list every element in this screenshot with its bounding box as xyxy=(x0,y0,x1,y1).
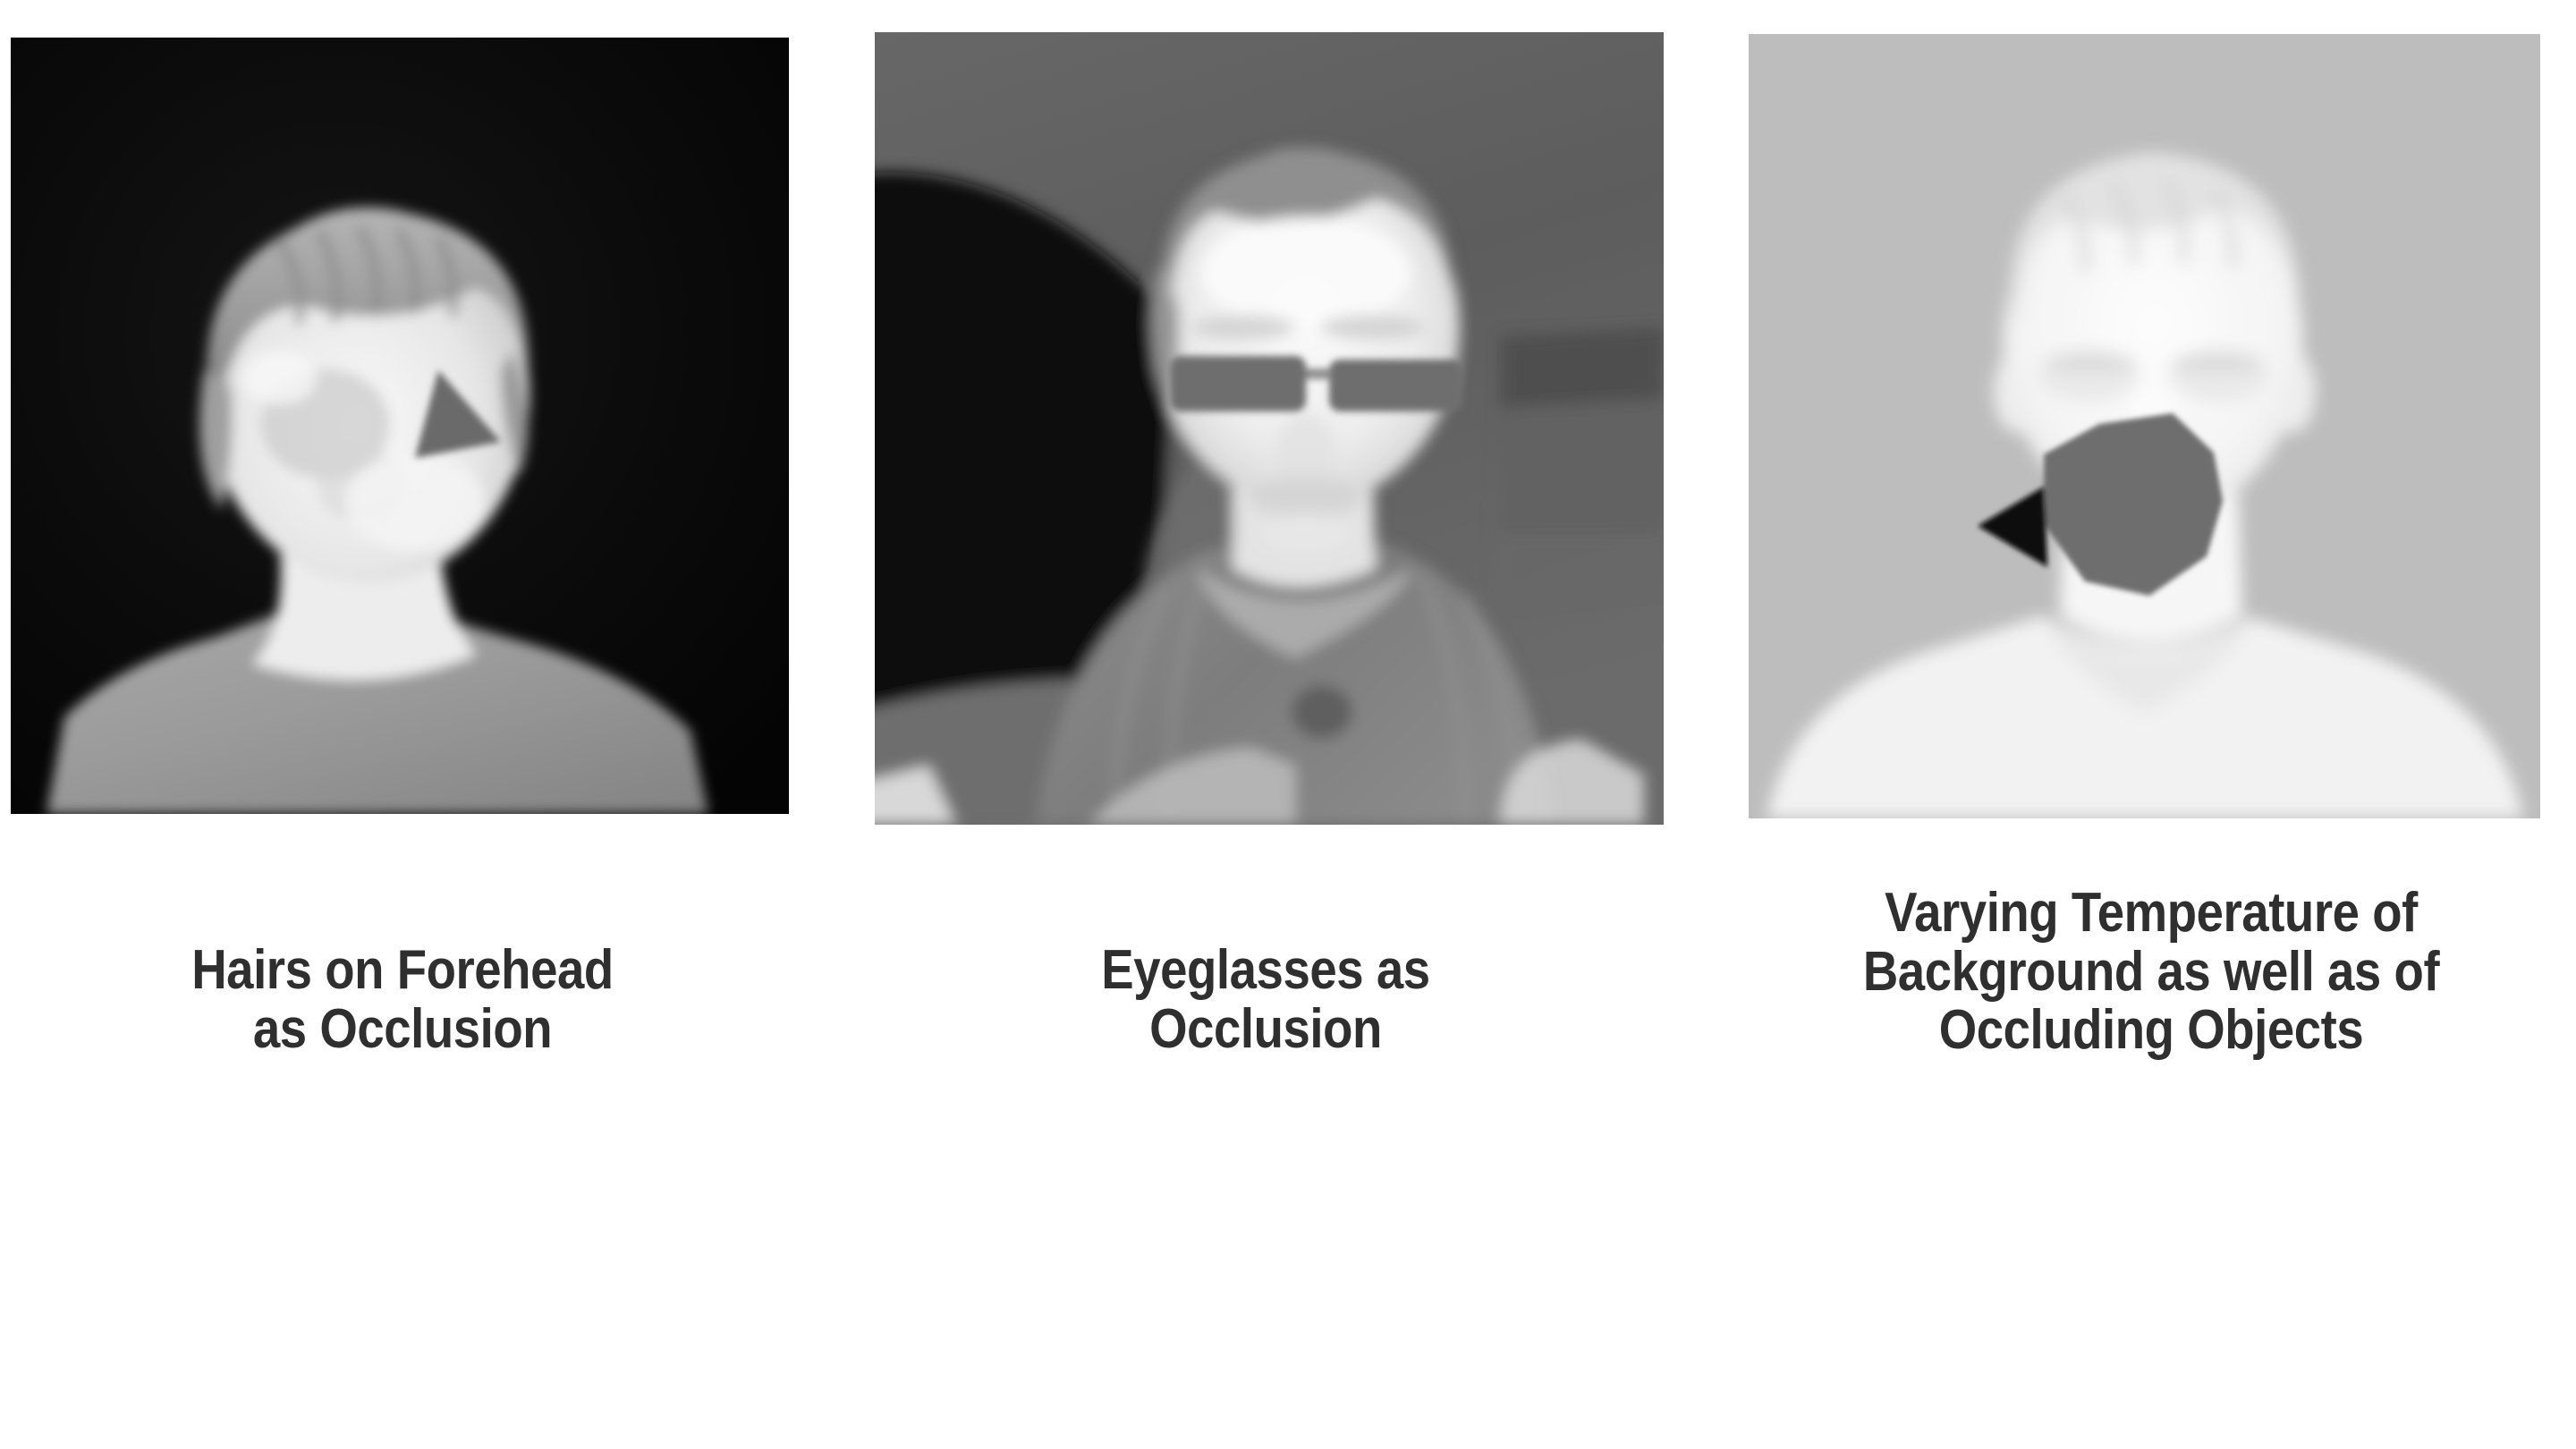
thermal-face-light-background-graphic xyxy=(1749,34,2540,818)
thermal-face-in-car-graphic xyxy=(875,32,1664,825)
thermal-image-varying-temperature xyxy=(1749,34,2540,818)
thermal-image-eyeglasses xyxy=(875,32,1664,825)
panel-caption-varying-temperature: Varying Temperature of Background as wel… xyxy=(1785,884,2517,1060)
thermal-image-hairs-on-forehead xyxy=(11,38,789,814)
panel-caption-eyeglasses: Eyeglasses as Occlusion xyxy=(908,941,1624,1058)
figure-root: Hairs on Forehead as Occlusion xyxy=(0,0,2576,1449)
panel-caption-hairs-on-forehead: Hairs on Forehead as Occlusion xyxy=(48,941,757,1058)
thermal-face-dark-background-graphic xyxy=(11,38,789,814)
